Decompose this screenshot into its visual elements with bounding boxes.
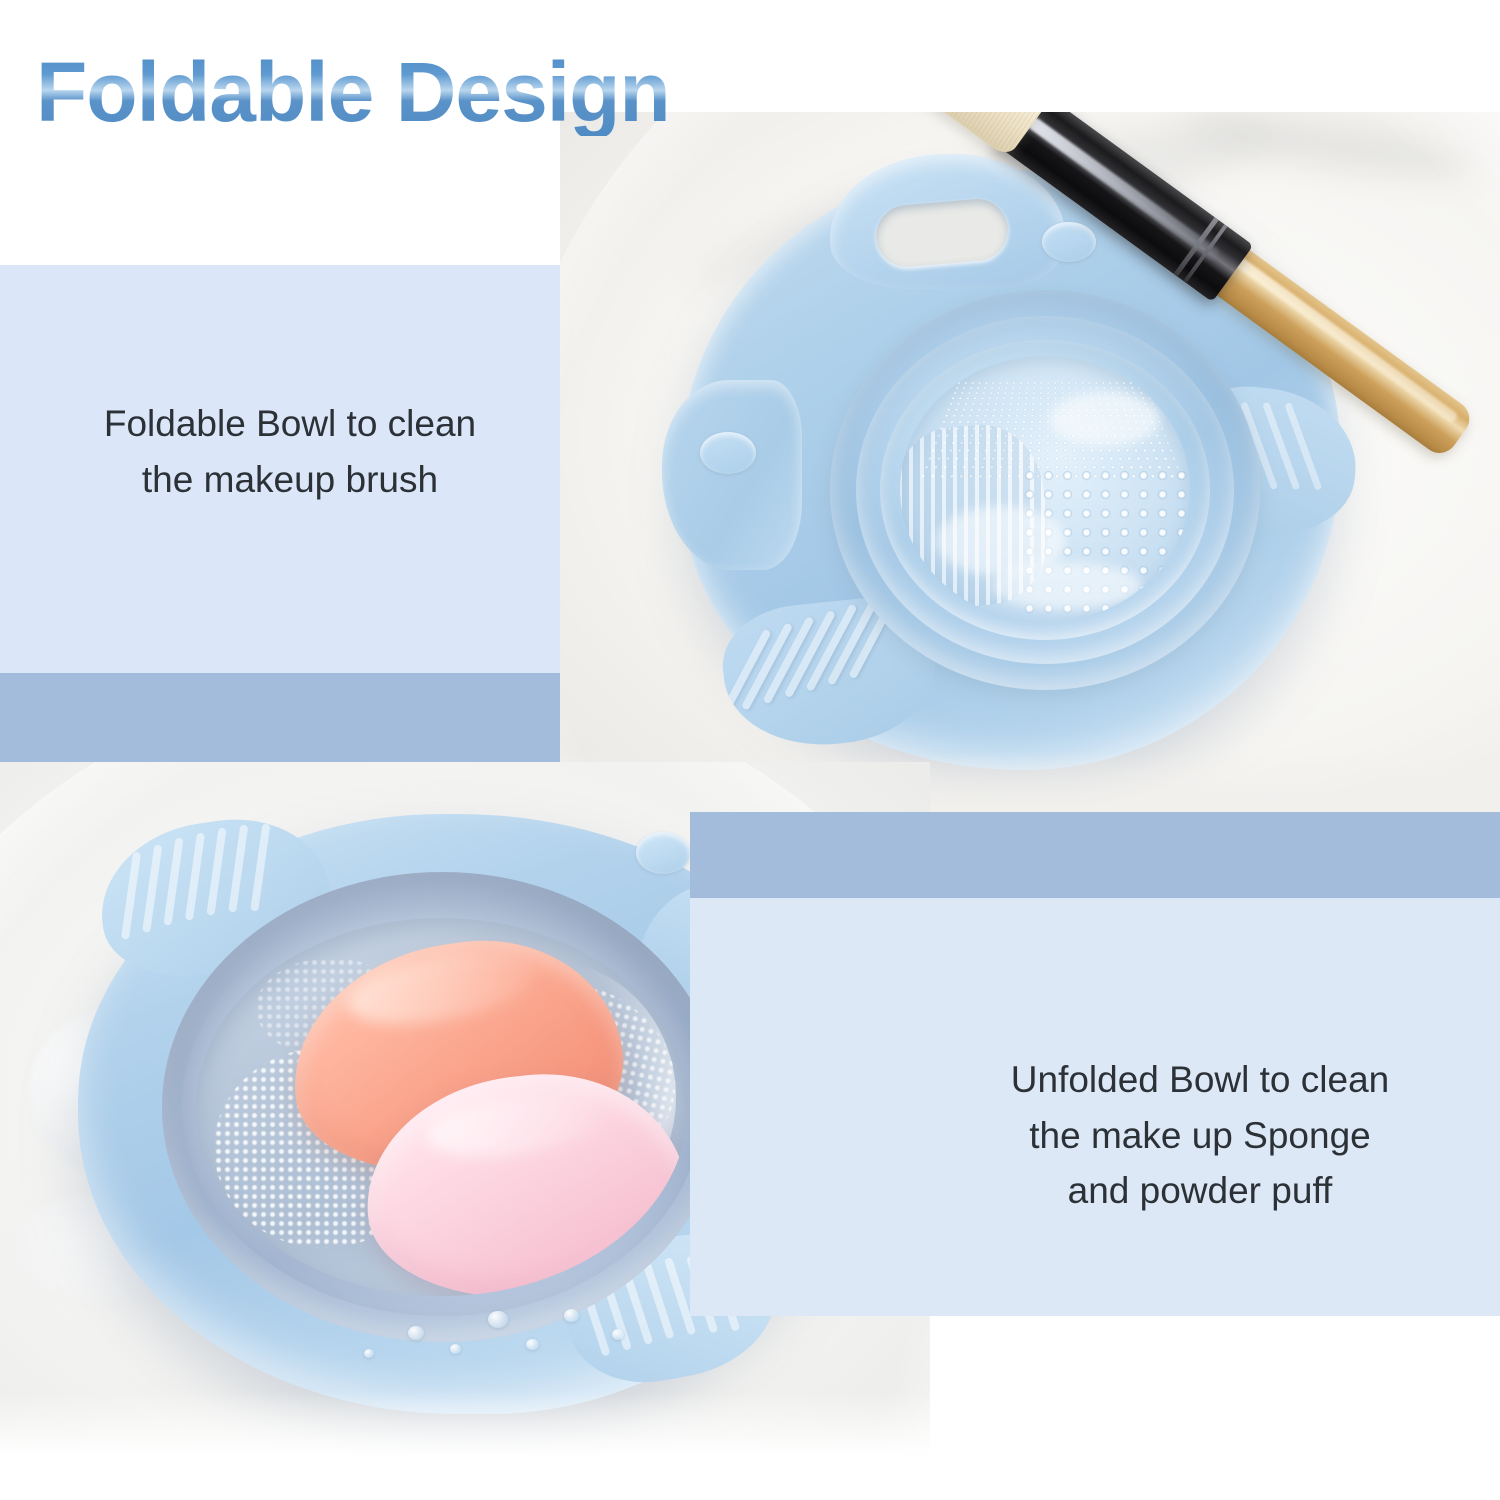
water-droplet bbox=[408, 1326, 424, 1340]
water-droplet bbox=[488, 1311, 508, 1328]
water-droplet bbox=[364, 1349, 374, 1358]
infographic-canvas: Foldable Design Foldable Bowl to clean t… bbox=[0, 0, 1500, 1500]
water-droplet bbox=[612, 1329, 624, 1340]
water-droplet bbox=[450, 1344, 461, 1354]
folded-bowl-with-brush-photo bbox=[560, 112, 1500, 812]
marble-background bbox=[560, 112, 1500, 812]
soap-foam bbox=[1050, 392, 1160, 446]
caption-unfolded-bowl: Unfolded Bowl to clean the make up Spong… bbox=[950, 1052, 1450, 1219]
water-droplet bbox=[526, 1339, 539, 1350]
photo-bottom-fade bbox=[0, 1392, 930, 1462]
page-title: Foldable Design bbox=[36, 48, 670, 136]
bowl-textured-base bbox=[900, 356, 1190, 622]
soap-foam bbox=[992, 562, 1142, 610]
bowl-bump bbox=[636, 832, 690, 874]
bowl-side-tab-left bbox=[662, 380, 802, 570]
water-droplet bbox=[564, 1309, 579, 1322]
band-right-dark bbox=[690, 812, 1500, 898]
caption-foldable-bowl: Foldable Bowl to clean the makeup brush bbox=[40, 396, 540, 507]
bowl-bump bbox=[700, 432, 756, 474]
soapy-water bbox=[196, 918, 688, 1296]
